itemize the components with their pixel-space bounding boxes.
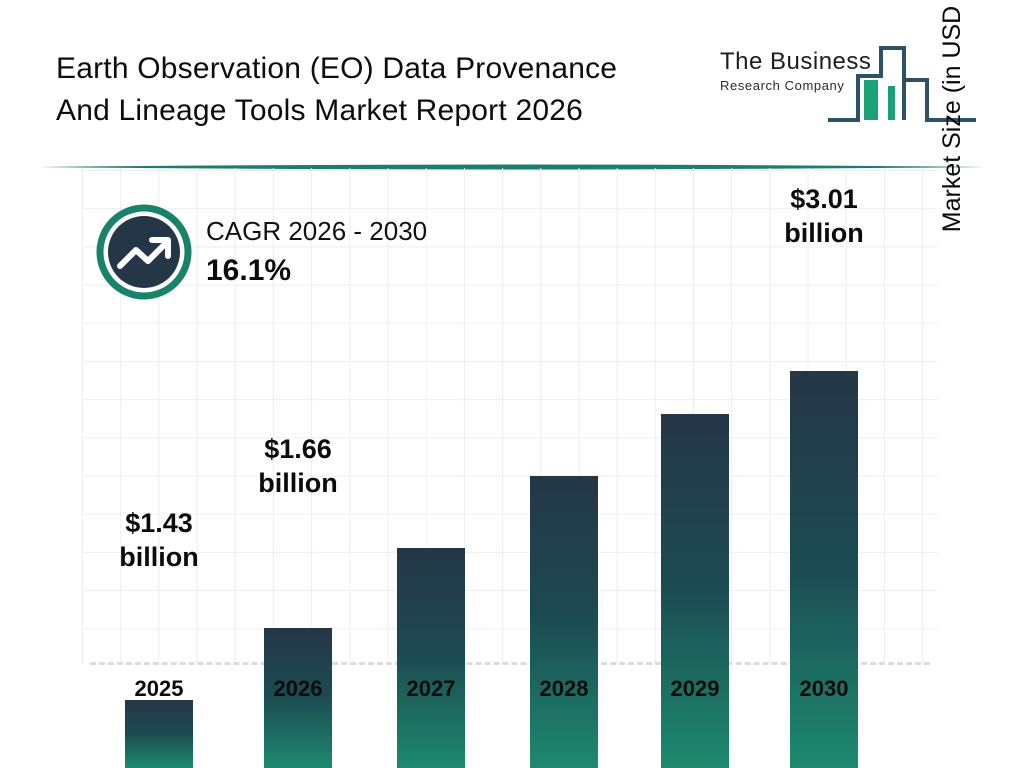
- cagr-period-label: CAGR 2026 - 2030: [206, 216, 427, 247]
- x-label-2027: 2027: [366, 676, 496, 702]
- page-title: Earth Observation (EO) Data Provenance A…: [56, 48, 716, 132]
- page-header: Earth Observation (EO) Data Provenance A…: [0, 0, 1024, 162]
- trending-up-arrow-icon: [96, 204, 192, 300]
- bar-value-2025: $1.43 billion: [94, 506, 224, 574]
- cagr-badge: CAGR 2026 - 2030 16.1%: [96, 204, 496, 314]
- bar-value-2030: $3.01 billion: [759, 182, 889, 250]
- cagr-value: 16.1%: [206, 254, 291, 288]
- x-label-2025: 2025: [94, 676, 224, 702]
- bar-2028[interactable]: [530, 476, 598, 768]
- x-label-2026: 2026: [233, 676, 363, 702]
- bar-2027[interactable]: [397, 548, 465, 768]
- x-label-2028: 2028: [499, 676, 629, 702]
- bar-2025[interactable]: [125, 700, 193, 768]
- header-divider: [38, 158, 986, 166]
- x-label-2029: 2029: [630, 676, 760, 702]
- y-axis-title: Market Size (in USD Billion): [938, 0, 967, 288]
- bar-chart: $1.43 billion $1.66 billion $3.01 billio…: [0, 168, 1024, 768]
- bar-2030[interactable]: [790, 371, 858, 768]
- bar-2029[interactable]: [661, 414, 729, 768]
- x-label-2030: 2030: [759, 676, 889, 702]
- bar-value-2026: $1.66 billion: [233, 432, 363, 500]
